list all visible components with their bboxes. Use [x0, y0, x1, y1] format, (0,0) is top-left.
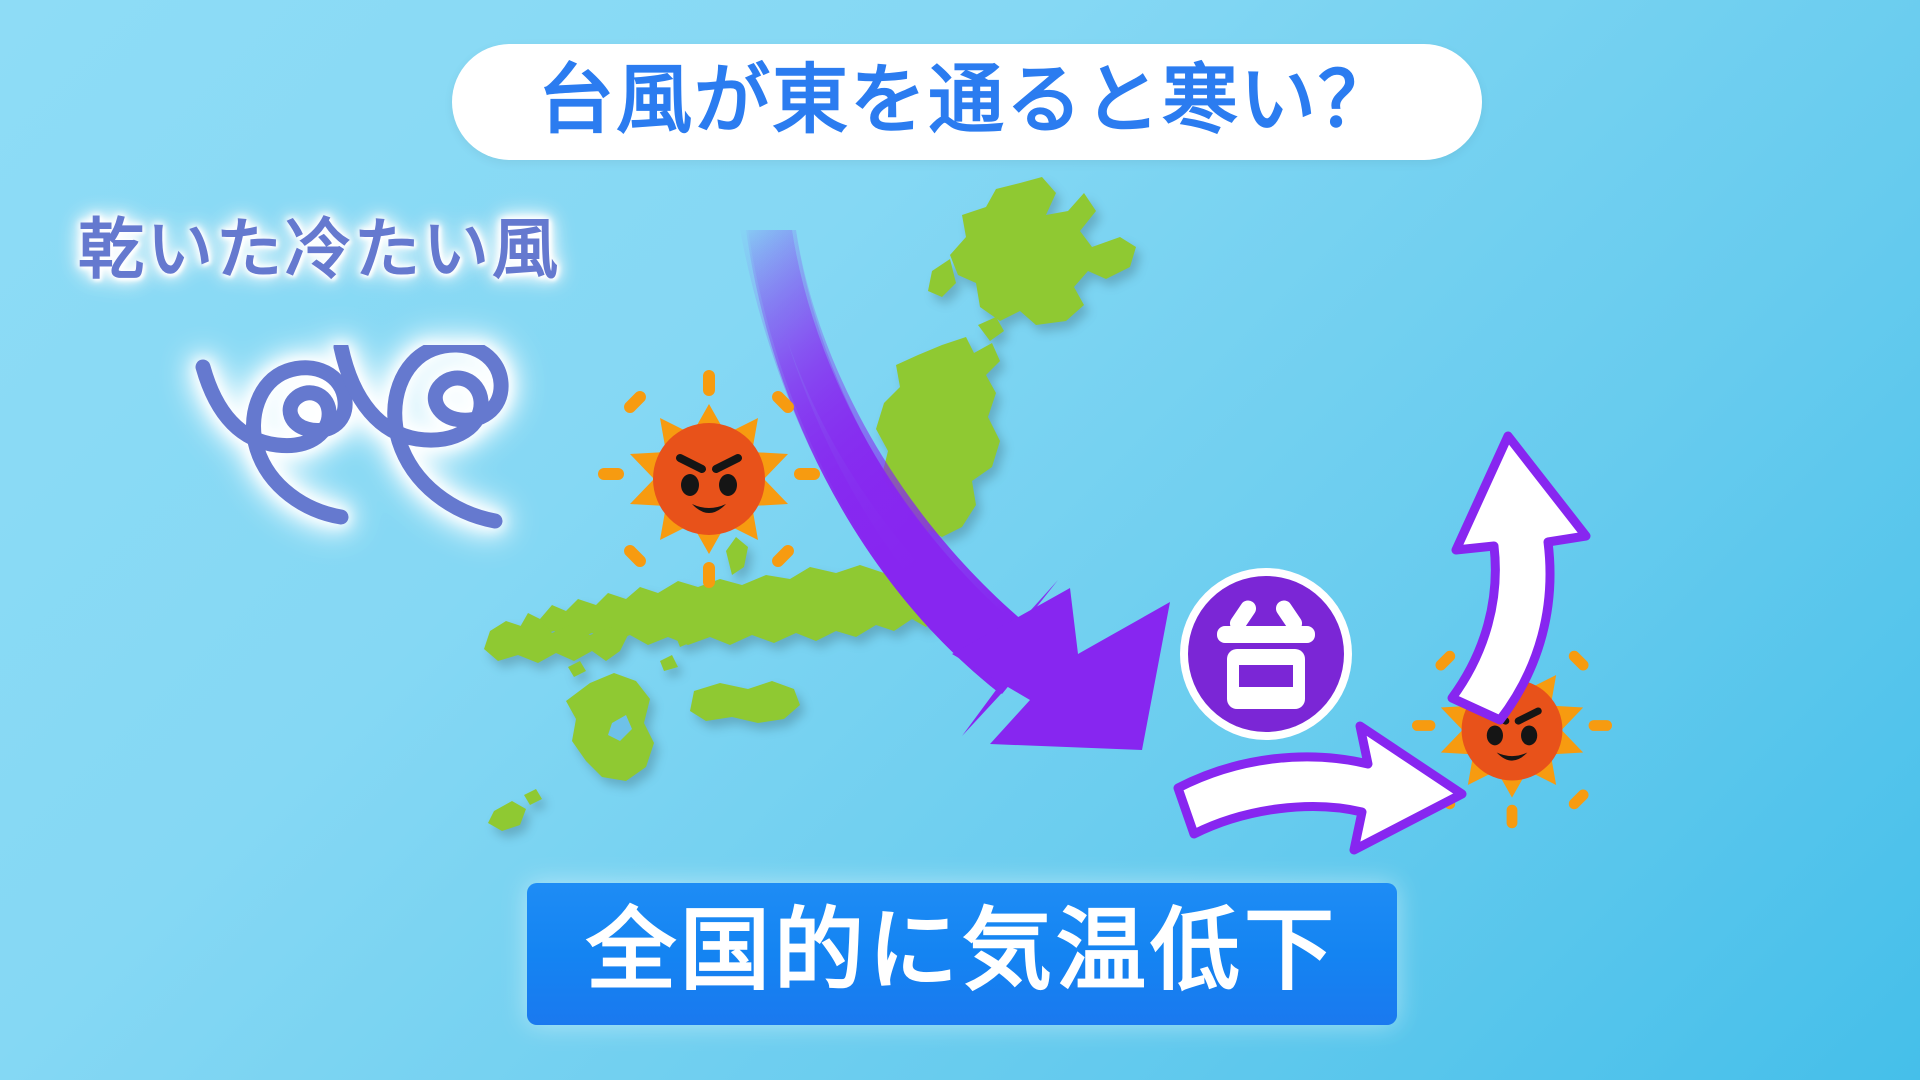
typhoon-path-arrow-right	[1170, 720, 1470, 860]
title-banner: 台風が東を通ると寒い？	[452, 44, 1482, 160]
typhoon-badge-icon	[1175, 563, 1357, 745]
conclusion-banner: 全国的に気温低下	[527, 883, 1397, 1025]
angry-sun-icon	[598, 368, 820, 590]
page-title: 台風が東を通ると寒い？	[538, 62, 1396, 138]
weather-infographic: 台風が東を通ると寒い？ 乾いた冷たい風	[0, 0, 1920, 1080]
typhoon-path-arrow-up	[1380, 430, 1600, 730]
conclusion-banner-text: 全国的に気温低下	[586, 906, 1338, 996]
